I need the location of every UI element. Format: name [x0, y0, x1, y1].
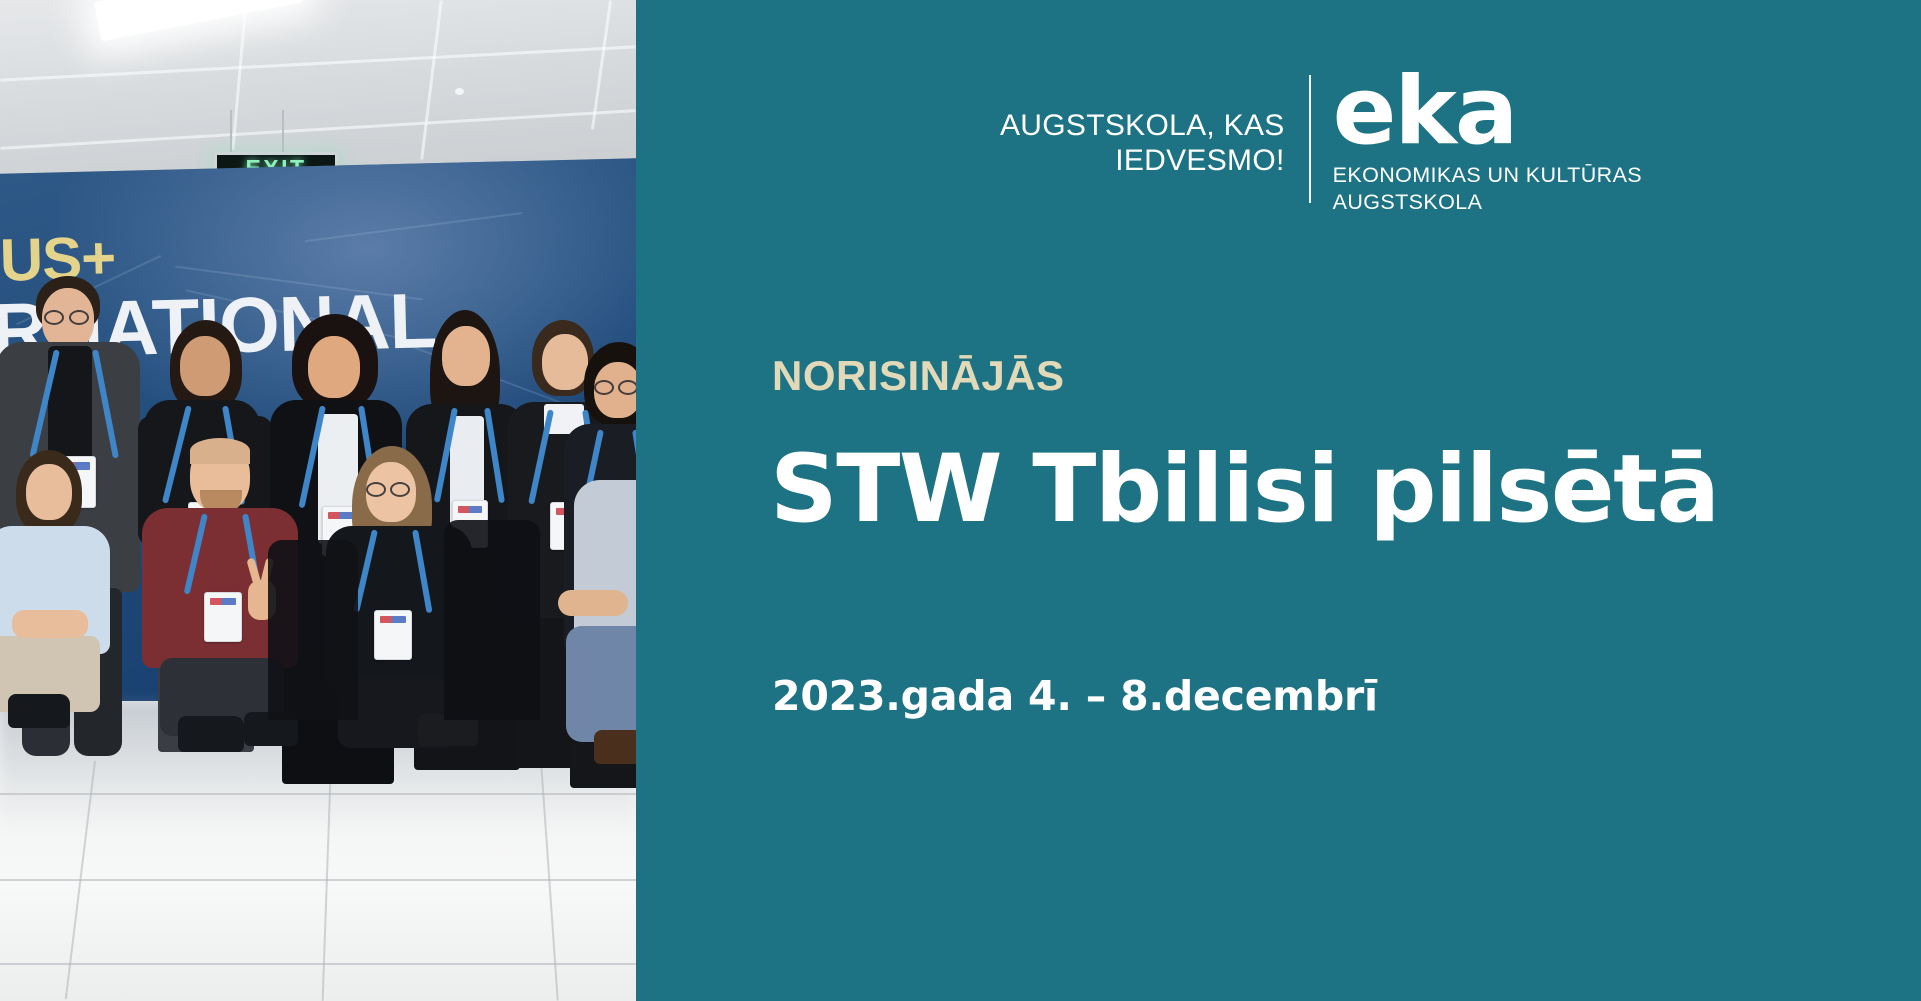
event-dates: 2023.gada 4. – 8.decembrī	[772, 672, 1378, 720]
event-status-kicker: NORISINĀJĀS	[772, 352, 1065, 400]
floor-grout-line	[0, 879, 636, 881]
logo-subtitle: EKONOMIKAS UN KULTŪRAS AUGSTSKOLA	[1333, 162, 1642, 216]
ceiling-grid-line	[0, 45, 635, 81]
ceiling-speck	[455, 88, 464, 95]
backdrop-swoosh	[304, 212, 522, 242]
logo-subtitle-line1: EKONOMIKAS UN KULTŪRAS	[1333, 162, 1642, 189]
ceiling-light	[94, 0, 304, 41]
content-panel: AUGSTSKOLA, KAS IEDVESMO! eka EKONOMIKAS…	[636, 0, 1921, 1001]
eka-logo[interactable]: AUGSTSKOLA, KAS IEDVESMO! eka EKONOMIKAS…	[1000, 72, 1642, 216]
exit-sign-rod	[282, 110, 284, 154]
logo-slogan: AUGSTSKOLA, KAS IEDVESMO!	[1000, 72, 1309, 179]
logo-wordmark: eka	[1333, 72, 1642, 153]
promo-banner: EXIT MUS+ ERNATIONAL STAFF WEEK	[0, 0, 1921, 1001]
event-photo: EXIT MUS+ ERNATIONAL STAFF WEEK	[0, 0, 636, 1001]
exit-sign-rod	[230, 110, 232, 154]
logo-slogan-line1: AUGSTSKOLA, KAS	[1000, 108, 1285, 143]
logo-divider	[1309, 75, 1311, 203]
person-kneeling-cropped	[540, 480, 636, 780]
ceiling-grid-line	[420, 0, 442, 159]
event-title: STW Tbilisi pilsētā	[770, 435, 1719, 544]
floor-grout-line	[0, 963, 636, 965]
person-background-shadow-2	[444, 520, 540, 720]
exit-sign-assembly: EXIT	[214, 110, 354, 170]
person-kneeling-1	[0, 450, 116, 730]
floor-grout-line	[0, 793, 636, 795]
logo-subtitle-line2: AUGSTSKOLA	[1333, 189, 1642, 216]
logo-slogan-line2: IEDVESMO!	[1000, 143, 1285, 178]
logo-wordmark-block: eka EKONOMIKAS UN KULTŪRAS AUGSTSKOLA	[1311, 72, 1642, 216]
person-background-shadow	[268, 540, 358, 720]
